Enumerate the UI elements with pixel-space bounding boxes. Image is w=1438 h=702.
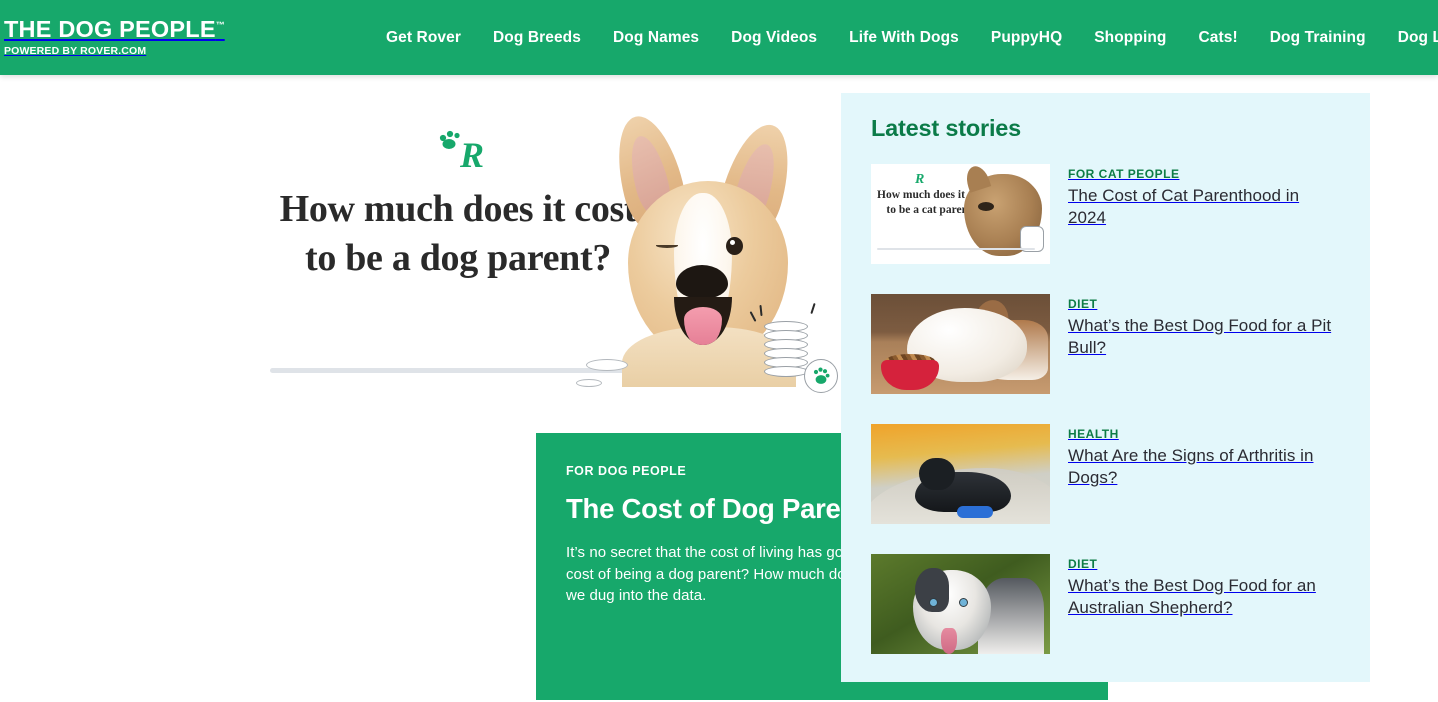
brand-name: THE DOG PEOPLE™: [4, 13, 234, 42]
nav-item-dog-videos[interactable]: Dog Videos: [715, 0, 833, 75]
nav-item-dog-breeds[interactable]: Dog Breeds: [477, 0, 597, 75]
latest-stories-panel: Latest stories R How much does it cost t…: [841, 93, 1370, 682]
story-title: The Cost of Cat Parenthood in 2024: [1068, 185, 1338, 229]
corgi-winking-eye: [656, 243, 678, 248]
black-labrador-photo: [871, 424, 1050, 524]
story-item-cat-parenthood[interactable]: R How much does it cost to be a cat pare…: [871, 164, 1340, 264]
svg-text:R: R: [459, 135, 484, 175]
story-item-aussie-food[interactable]: DIET What’s the Best Dog Food for an Aus…: [871, 554, 1340, 654]
story-thumbnail-australian-shepherd[interactable]: [871, 554, 1050, 654]
brand-tagline: POWERED BY ROVER.COM: [4, 44, 234, 58]
loose-coin-small: [576, 379, 602, 387]
nav-item-puppyhq[interactable]: PuppyHQ: [975, 0, 1078, 75]
story-category: DIET: [1068, 297, 1340, 311]
story-item-arthritis-signs[interactable]: HEALTH What Are the Signs of Arthritis i…: [871, 424, 1340, 524]
story-title: What Are the Signs of Arthritis in Dogs?: [1068, 445, 1338, 489]
story-item-pit-bull-food[interactable]: DIET What’s the Best Dog Food for a Pit …: [871, 294, 1340, 394]
nav-item-cats[interactable]: Cats!: [1183, 0, 1254, 75]
page-body: R How much does it cost to be a dog pare…: [0, 75, 1438, 702]
story-thumbnail-pit-bull[interactable]: [871, 294, 1050, 394]
coin-stack-icon: [764, 321, 836, 393]
australian-shepherd-photo: [871, 554, 1050, 654]
story-category: HEALTH: [1068, 427, 1340, 441]
nav-item-life-with-dogs[interactable]: Life With Dogs: [833, 0, 975, 75]
nav-item-dog-love[interactable]: Dog Love: [1382, 0, 1438, 75]
corgi-nose: [676, 265, 728, 299]
story-text-block: HEALTH What Are the Signs of Arthritis i…: [1068, 424, 1340, 489]
hero-headline: How much does it cost to be a dog parent…: [268, 185, 648, 283]
story-title: What’s the Best Dog Food for a Pit Bull?: [1068, 315, 1338, 359]
thumb-rover-mark: R: [915, 172, 924, 188]
trademark-symbol: ™: [216, 20, 225, 30]
paw-coin-icon: [804, 359, 838, 393]
site-header: THE DOG PEOPLE™ POWERED BY ROVER.COM Get…: [0, 0, 1438, 75]
rover-paw-r-icon: R: [434, 129, 494, 177]
nav-item-dog-names[interactable]: Dog Names: [597, 0, 715, 75]
nav-item-dog-training[interactable]: Dog Training: [1254, 0, 1382, 75]
story-text-block: DIET What’s the Best Dog Food for an Aus…: [1068, 554, 1340, 619]
story-text-block: FOR CAT PEOPLE The Cost of Cat Parenthoo…: [1068, 164, 1340, 229]
nav-item-get-rover[interactable]: Get Rover: [370, 0, 477, 75]
story-category: DIET: [1068, 557, 1340, 571]
featured-hero-image[interactable]: R How much does it cost to be a dog pare…: [268, 93, 840, 415]
primary-navigation: Get Rover Dog Breeds Dog Names Dog Video…: [370, 0, 1438, 75]
nav-item-shopping[interactable]: Shopping: [1078, 0, 1182, 75]
story-thumbnail-arthritis[interactable]: [871, 424, 1050, 524]
featured-article[interactable]: R How much does it cost to be a dog pare…: [268, 93, 840, 415]
story-text-block: DIET What’s the Best Dog Food for a Pit …: [1068, 294, 1340, 359]
site-logo[interactable]: THE DOG PEOPLE™ POWERED BY ROVER.COM: [4, 13, 234, 58]
story-thumbnail-cat-cost[interactable]: R How much does it cost to be a cat pare…: [871, 164, 1050, 264]
pit-bull-eating-photo: [871, 294, 1050, 394]
latest-stories-title: Latest stories: [871, 115, 1340, 142]
corgi-open-eye: [726, 237, 743, 255]
story-category: FOR CAT PEOPLE: [1068, 167, 1340, 181]
thumb-shelf-line: [877, 248, 1035, 250]
loose-coin-large: [586, 359, 628, 371]
story-title: What’s the Best Dog Food for an Australi…: [1068, 575, 1338, 619]
